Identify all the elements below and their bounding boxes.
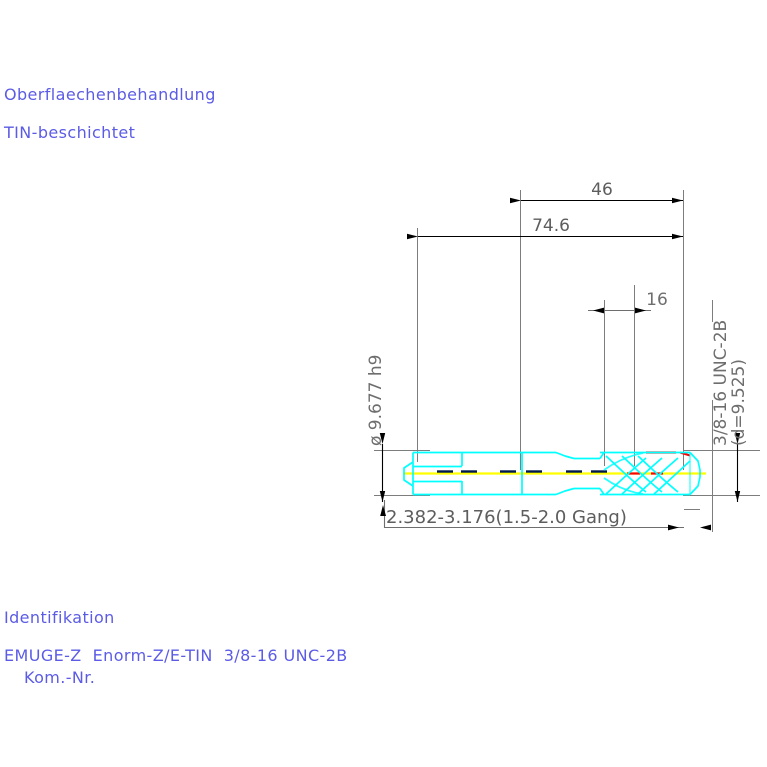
dimension-chamfer-lead-label: 2.382-3.176(1.5-2.0 Gang) [386, 507, 627, 528]
technical-drawing-canvas: 46 74.6 16 ø 9.677 h9 3/8-16 UNC-2B (d=9… [0, 0, 767, 767]
dimension-shank-diameter-label: ø 9.677 h9 [366, 355, 386, 446]
dimension-16-arrow-left [593, 308, 604, 314]
dimension-16-label: 16 [646, 290, 668, 310]
dimension-16-arrow-right [635, 308, 646, 314]
dimension-thread-pitch-dia-label: (d=9.525) [729, 359, 749, 446]
dimension-shank-diameter: ø 9.677 h9 [366, 355, 386, 502]
tap-tool [404, 453, 706, 495]
dimension-thread-spec-label: 3/8-16 UNC-2B [711, 320, 731, 446]
dimension-46-label: 46 [591, 180, 613, 200]
dimension-chamfer-lead-arrow-right [700, 525, 711, 531]
dimension-16: 16 [588, 290, 668, 313]
dimension-chamfer-lead: 2.382-3.176(1.5-2.0 Gang) [380, 500, 711, 530]
dimension-74-6: 74.6 [418, 216, 683, 237]
dimension-46: 46 [521, 180, 683, 201]
dimension-thread-spec: 3/8-16 UNC-2B (d=9.525) [711, 320, 749, 502]
dimension-chamfer-lead-arrow-left [668, 525, 679, 531]
dimension-74-6-label: 74.6 [532, 216, 570, 236]
